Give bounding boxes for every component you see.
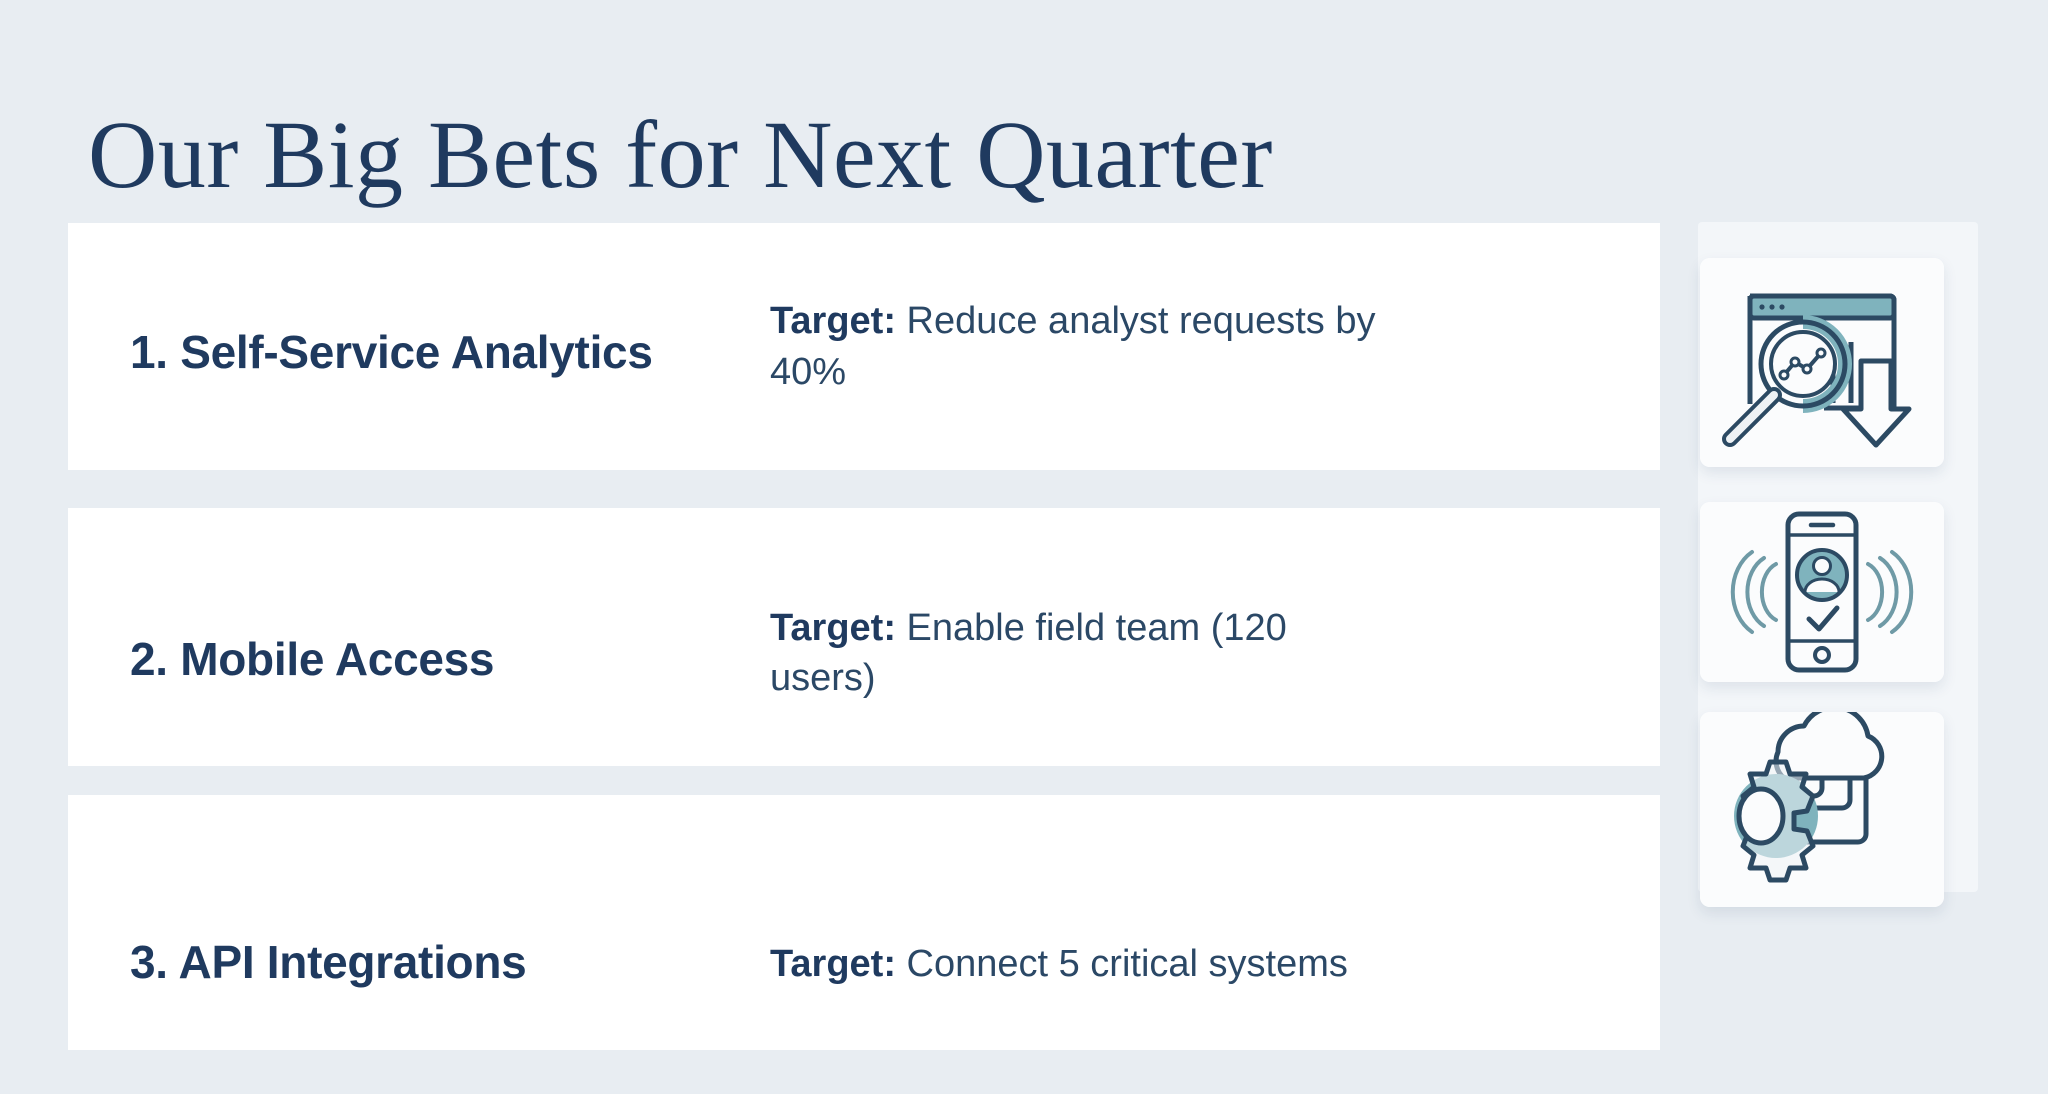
gear-cloud-integration-icon (1700, 712, 1944, 907)
page-title: Our Big Bets for Next Quarter (88, 100, 1273, 210)
card-heading: 1. Self-Service Analytics (130, 326, 770, 379)
magnifier-analytics-icon (1700, 258, 1944, 467)
mobile-user-signal-icon (1700, 502, 1944, 682)
bet-card-3[interactable]: 3. API Integrations Target: Connect 5 cr… (68, 795, 1660, 1050)
bet-card-2[interactable]: 2. Mobile Access Target: Enable field te… (68, 508, 1660, 766)
target-text: Connect 5 critical systems (896, 943, 1348, 985)
card-heading: 3. API Integrations (130, 936, 770, 989)
bet-card-1[interactable]: 1. Self-Service Analytics Target: Reduce… (68, 223, 1660, 470)
card-content: 3. API Integrations Target: Connect 5 cr… (68, 936, 1660, 989)
target-label: Target: (770, 943, 896, 985)
target-label: Target: (770, 607, 896, 649)
card-content: 2. Mobile Access Target: Enable field te… (68, 609, 1660, 709)
target-label: Target: (770, 300, 896, 342)
slide-canvas: Our Big Bets for Next Quarter 1. Self-Se… (0, 0, 2048, 1094)
card-content: 1. Self-Service Analytics Target: Reduce… (68, 302, 1660, 402)
card-heading: 2. Mobile Access (130, 633, 770, 686)
card-target: Target: Enable field team (120 users) (770, 603, 1390, 703)
card-target: Target: Reduce analyst requests by 40% (770, 296, 1390, 396)
card-target: Target: Connect 5 critical systems (770, 939, 1390, 989)
